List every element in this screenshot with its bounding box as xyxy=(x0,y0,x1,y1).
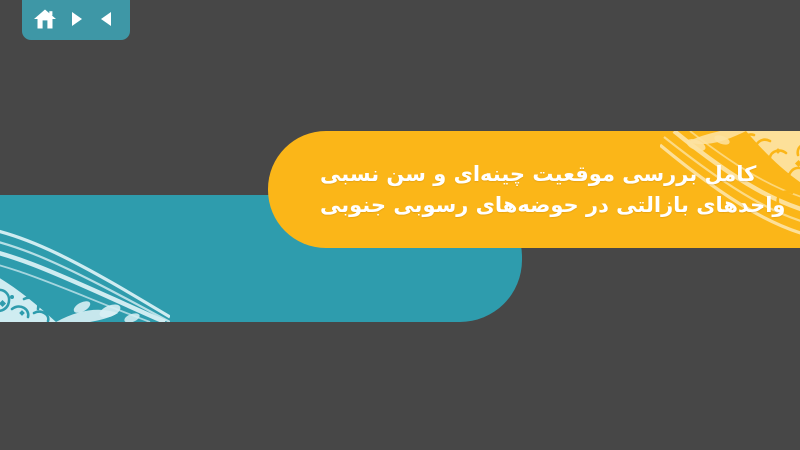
home-icon xyxy=(33,8,57,30)
slide-title: کامل بررسی موقعیت چینه‌ای و سن نسبی واحد… xyxy=(320,131,800,248)
home-button[interactable] xyxy=(31,5,59,33)
next-slide-button[interactable] xyxy=(62,5,90,33)
presentation-slide: کامل بررسی موقعیت چینه‌ای و سن نسبی واحد… xyxy=(0,0,800,450)
forward-arrow-icon xyxy=(66,9,86,29)
title-line-1: کامل بررسی موقعیت چینه‌ای و سن نسبی xyxy=(320,159,756,190)
arabesque-ornament xyxy=(0,217,170,322)
title-line-2: واحدهای بازالتی در حوضه‌های رسوبی جنوبی xyxy=(320,190,785,221)
previous-slide-button[interactable] xyxy=(93,5,121,33)
navigation-bar xyxy=(22,0,130,40)
back-arrow-icon xyxy=(97,9,117,29)
orange-banner: کامل بررسی موقعیت چینه‌ای و سن نسبی واحد… xyxy=(268,131,800,248)
